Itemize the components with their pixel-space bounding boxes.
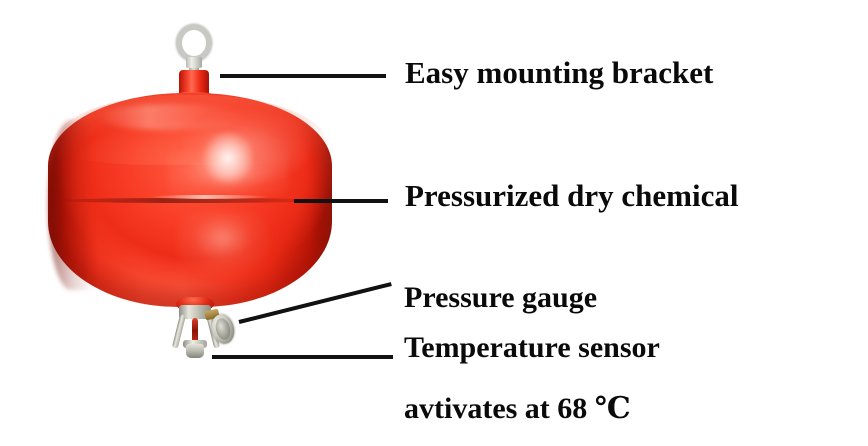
tank-body: [48, 93, 332, 307]
product-diagram: Easy mounting bracket Pressurized dry ch…: [0, 0, 868, 446]
eye-bolt-nut: [186, 57, 202, 68]
callout-label-activation-temperature: avtivates at 68 ℃: [404, 394, 631, 424]
callout-label-temperature-sensor: Temperature sensor: [404, 333, 660, 363]
leader-line-bracket: [220, 74, 386, 78]
callout-label-bracket: Easy mounting bracket: [405, 57, 713, 88]
fire-extinguisher-illustration: [0, 0, 400, 446]
leader-line-sensor: [212, 355, 393, 359]
leader-line-chemical: [294, 199, 388, 203]
callout-label-chemical: Pressurized dry chemical: [405, 180, 738, 211]
sprinkler-deflector-tip: [186, 344, 204, 358]
callout-label-pressure-gauge: Pressure gauge: [404, 283, 597, 313]
